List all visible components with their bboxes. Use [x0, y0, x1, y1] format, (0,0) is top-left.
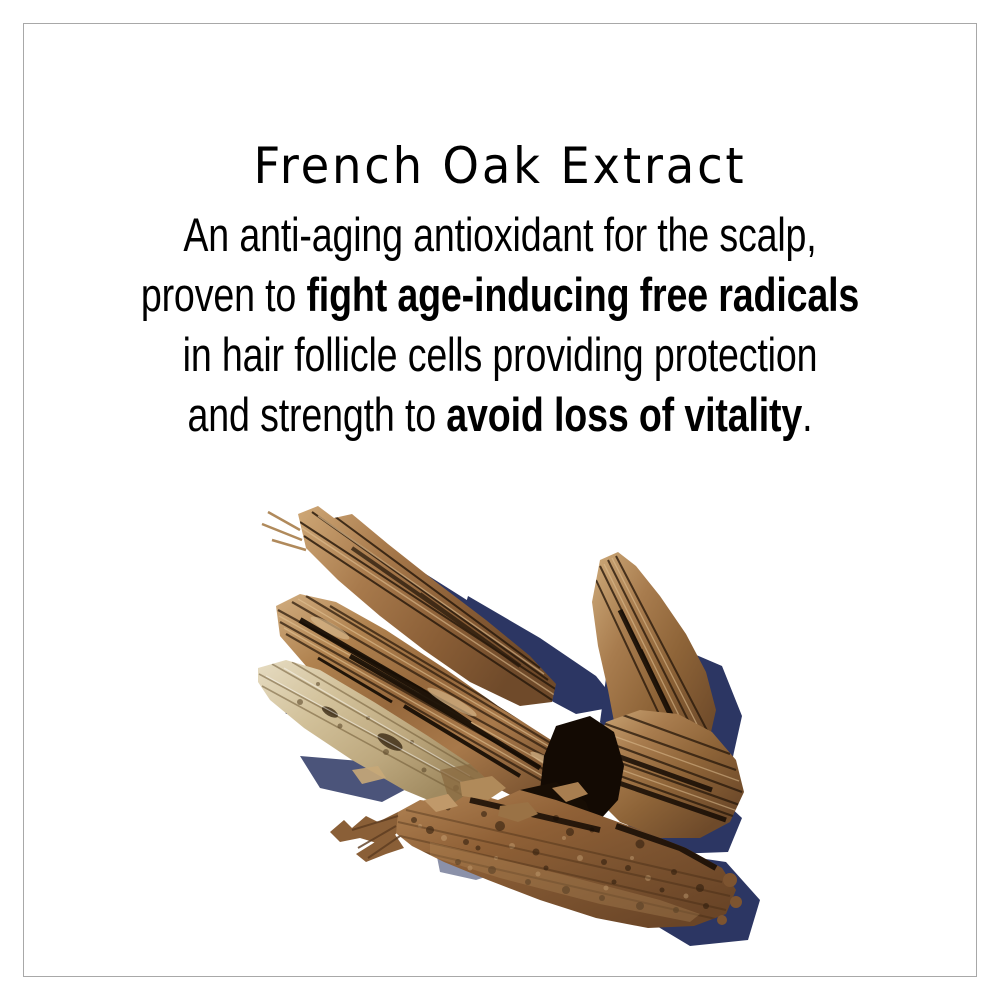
text-segment: in hair follicle cells providing protect…	[183, 328, 818, 381]
description-text: An anti-aging antioxidant for the scalp,…	[0, 205, 1000, 445]
text-segment: and strength to	[188, 388, 447, 441]
text-segment: proven to	[141, 268, 307, 321]
oak-bark-photo	[0, 470, 1000, 970]
description-line-1: An anti-aging antioxidant for the scalp,	[100, 205, 900, 265]
description-line-4: and strength to avoid loss of vitality.	[100, 385, 900, 445]
description-line-2: proven to fight age-inducing free radica…	[100, 265, 900, 325]
bark-chips	[0, 470, 1000, 970]
text-segment-emphasis: avoid loss of vitality	[446, 388, 802, 441]
product-ingredient-card: French Oak Extract An anti-aging antioxi…	[0, 0, 1000, 1000]
text-segment-emphasis: fight age-inducing free radicals	[306, 268, 859, 321]
page-title: French Oak Extract	[35, 138, 965, 194]
text-segment: An anti-aging antioxidant for the scalp,	[183, 208, 816, 261]
description-line-3: in hair follicle cells providing protect…	[100, 325, 900, 385]
text-segment: .	[802, 388, 812, 441]
